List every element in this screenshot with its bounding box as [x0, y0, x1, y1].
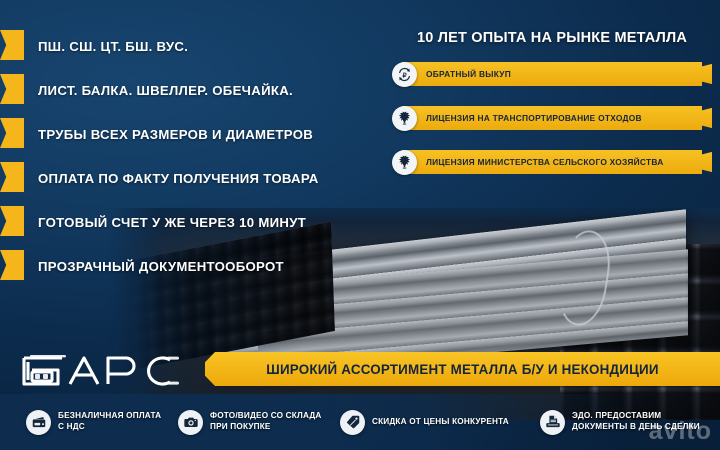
list-item: ПРОЗРАЧНЫЙ ДОКУМЕНТООБОРОТ [0, 244, 400, 288]
feature-line-1: БЕЗНАЛИЧНАЯ ОПЛАТА [58, 411, 161, 422]
assortment-banner-text: ШИРОКИЙ АССОРТИМЕНТ МЕТАЛЛА Б/У И НЕКОНД… [266, 362, 658, 377]
badge-label: ОБРАТНЫЙ ВЫКУП [426, 69, 511, 79]
feature-line-1: ФОТО/ВИДЕО СО СКЛАДА [210, 411, 322, 422]
feature-label: ЭДО. ПРЕДОСТАВИМ ДОКУМЕНТЫ В ДЕНЬ СДЕЛКИ [572, 411, 700, 433]
badge-waste-transport-license: ЛИЦЕНЗИЯ НА ТРАНСПОРТИРОВАНИЕ ОТХОДОВ [392, 106, 712, 130]
assortment-banner: ШИРОКИЙ АССОРТИМЕНТ МЕТАЛЛА Б/У И НЕКОНД… [205, 352, 720, 386]
ribbon-marker-icon [0, 74, 24, 104]
list-item: ЛИСТ. БАЛКА. ШВЕЛЛЕР. ОБЕЧАЙКА. [0, 68, 400, 112]
feature-line-1: ЭДО. ПРЕДОСТАВИМ [572, 411, 700, 422]
bullet-label: ПРОЗРАЧНЫЙ ДОКУМЕНТООБОРОТ [38, 259, 284, 274]
feature-line-1: СКИДКА ОТ ЦЕНЫ КОНКУРЕНТА [372, 417, 509, 428]
bullet-label: ОПЛАТА ПО ФАКТУ ПОЛУЧЕНИЯ ТОВАРА [38, 171, 319, 186]
feature-label: БЕЗНАЛИЧНАЯ ОПЛАТА С НДС [58, 411, 161, 433]
bullet-label: ГОТОВЫЙ СЧЕТ У ЖЕ ЧЕРЕЗ 10 МИНУТ [38, 215, 306, 230]
ribbon-marker-icon [0, 30, 24, 60]
circular-arrows-ruble-icon: ₽ [392, 62, 417, 87]
bullet-label: ЛИСТ. БАЛКА. ШВЕЛЛЕР. ОБЕЧАЙКА. [38, 83, 293, 98]
price-tag-icon [340, 410, 365, 435]
camera-icon [178, 410, 203, 435]
feature-label: СКИДКА ОТ ЦЕНЫ КОНКУРЕНТА [372, 417, 509, 428]
feature-cashless-payment: БЕЗНАЛИЧНАЯ ОПЛАТА С НДС [26, 410, 161, 435]
feature-line-2: ПРИ ПОКУПКЕ [210, 422, 322, 433]
ribbon-marker-icon [0, 118, 24, 148]
double-headed-eagle-icon [392, 106, 417, 131]
experience-panel: 10 ЛЕТ ОПЫТА НА РЫНКЕ МЕТАЛЛА ₽ ОБРАТНЫЙ… [392, 30, 712, 194]
advertisement-banner: ПШ. СШ. ЦТ. БШ. ВУС. ЛИСТ. БАЛКА. ШВЕЛЛЕ… [0, 0, 720, 450]
bullet-label: ТРУБЫ ВСЕХ РАЗМЕРОВ И ДИАМЕТРОВ [38, 127, 313, 142]
feature-photo-video: ФОТО/ВИДЕО СО СКЛАДА ПРИ ПОКУПКЕ [178, 410, 322, 435]
list-item: ОПЛАТА ПО ФАКТУ ПОЛУЧЕНИЯ ТОВАРА [0, 156, 400, 200]
feature-label: ФОТО/ВИДЕО СО СКЛАДА ПРИ ПОКУПКЕ [210, 411, 322, 433]
ribbon-marker-icon [0, 162, 24, 192]
badge-agriculture-ministry-license: ЛИЦЕНЗИЯ МИНИСТЕРСТВА СЕЛЬСКОГО ХОЗЯЙСТВ… [392, 150, 712, 174]
page-title: 10 ЛЕТ ОПЫТА НА РЫНКЕ МЕТАЛЛА [392, 30, 712, 46]
ribbon-marker-icon [0, 250, 24, 280]
card-payment-icon [26, 410, 51, 435]
double-headed-eagle-icon [392, 150, 417, 175]
badge-buyback: ₽ ОБРАТНЫЙ ВЫКУП [392, 62, 712, 86]
svg-text:₽: ₽ [402, 72, 406, 79]
badge-label: ЛИЦЕНЗИЯ НА ТРАНСПОРТИРОВАНИЕ ОТХОДОВ [426, 113, 642, 123]
bottom-feature-strip: БЕЗНАЛИЧНАЯ ОПЛАТА С НДС ФОТО/ВИДЕО СО С… [0, 394, 720, 450]
badge-label: ЛИЦЕНЗИЯ МИНИСТЕРСТВА СЕЛЬСКОГО ХОЗЯЙСТВ… [426, 157, 664, 167]
document-monitor-icon [540, 410, 565, 435]
feature-line-2: С НДС [58, 422, 161, 433]
bullet-label: ПШ. СШ. ЦТ. БШ. ВУС. [38, 39, 188, 54]
feature-edo-documents: ЭДО. ПРЕДОСТАВИМ ДОКУМЕНТЫ В ДЕНЬ СДЕЛКИ [540, 410, 700, 435]
feature-competitor-discount: СКИДКА ОТ ЦЕНЫ КОНКУРЕНТА [340, 410, 509, 435]
feature-bullet-list: ПШ. СШ. ЦТ. БШ. ВУС. ЛИСТ. БАЛКА. ШВЕЛЛЕ… [0, 24, 400, 288]
list-item: ГОТОВЫЙ СЧЕТ У ЖЕ ЧЕРЕЗ 10 МИНУТ [0, 200, 400, 244]
list-item: ПШ. СШ. ЦТ. БШ. ВУС. [0, 24, 400, 68]
ribbon-marker-icon [0, 206, 24, 236]
company-logo: БАРС [18, 348, 190, 396]
feature-line-2: ДОКУМЕНТЫ В ДЕНЬ СДЕЛКИ [572, 422, 700, 433]
list-item: ТРУБЫ ВСЕХ РАЗМЕРОВ И ДИАМЕТРОВ [0, 112, 400, 156]
